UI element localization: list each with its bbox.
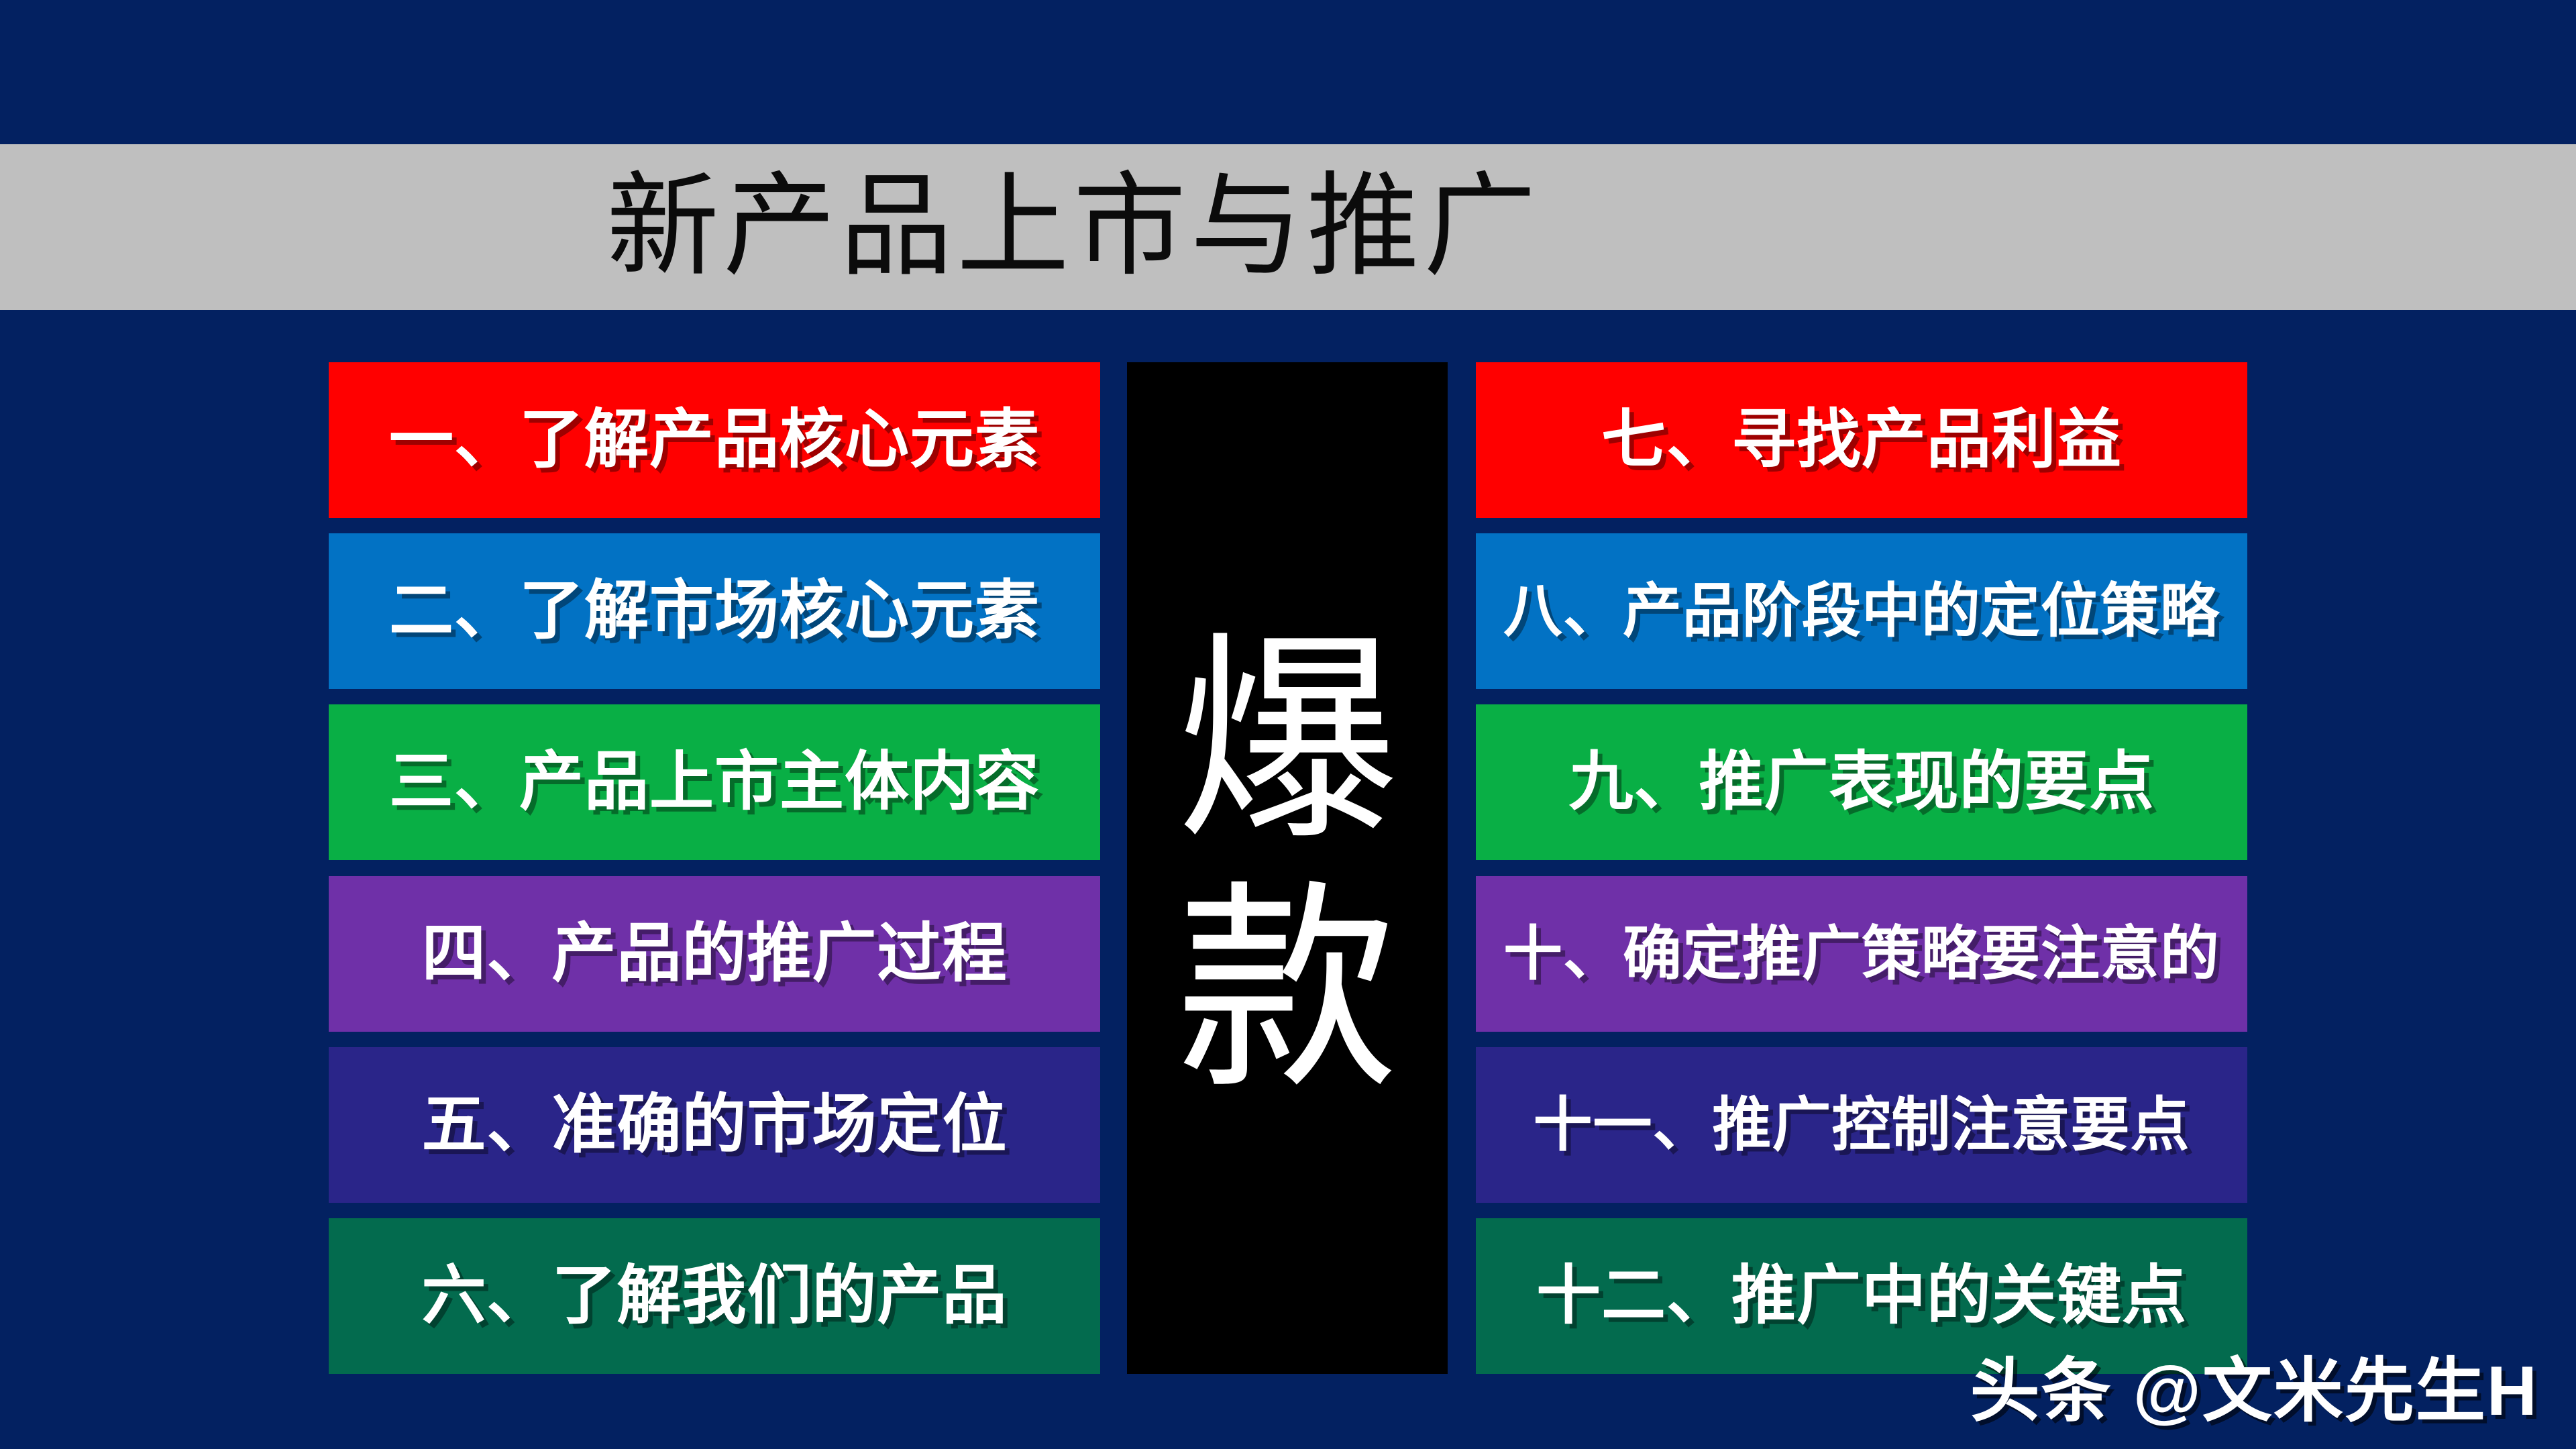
topic-item-3[interactable]: 三、产品上市主体内容 — [329, 704, 1100, 860]
topic-item-5[interactable]: 五、准确的市场定位 — [329, 1047, 1100, 1203]
topic-item-label: 十一、推广控制注意要点 — [1533, 1095, 2190, 1155]
topic-item-7[interactable]: 七、寻找产品利益 — [1476, 362, 2247, 518]
topic-item-label: 六、了解我们的产品 — [422, 1264, 1008, 1328]
topic-item-label: 十、确定推广策略要注意的 — [1503, 924, 2220, 983]
topic-item-8[interactable]: 八、产品阶段中的定位策略 — [1476, 533, 2247, 689]
center-highlight-panel: 爆 款 — [1127, 362, 1448, 1374]
topic-item-10[interactable]: 十、确定推广策略要注意的 — [1476, 876, 2247, 1032]
left-topic-column: 一、了解产品核心元素 二、了解市场核心元素 三、产品上市主体内容 四、产品的推广… — [329, 362, 1100, 1374]
topic-item-label: 四、产品的推广过程 — [422, 922, 1008, 986]
topic-item-label: 七、寻找产品利益 — [1601, 408, 2122, 472]
right-topic-column: 七、寻找产品利益 八、产品阶段中的定位策略 九、推广表现的要点 十、确定推广策略… — [1476, 362, 2247, 1374]
topic-item-label: 一、了解产品核心元素 — [389, 408, 1040, 472]
watermark: 头条 @文米先生H — [1970, 1356, 2538, 1426]
topic-item-4[interactable]: 四、产品的推广过程 — [329, 876, 1100, 1032]
topic-item-2[interactable]: 二、了解市场核心元素 — [329, 533, 1100, 689]
topic-item-label: 八、产品阶段中的定位策略 — [1503, 582, 2220, 641]
topic-item-9[interactable]: 九、推广表现的要点 — [1476, 704, 2247, 860]
topic-item-label: 十二、推广中的关键点 — [1536, 1264, 2187, 1328]
topic-item-label: 九、推广表现的要点 — [1569, 750, 2155, 814]
topic-item-label: 二、了解市场核心元素 — [389, 579, 1040, 643]
topic-item-11[interactable]: 十一、推广控制注意要点 — [1476, 1047, 2247, 1203]
title-band: 新产品上市与推广 — [0, 144, 2576, 310]
slide-canvas: 新产品上市与推广 一、了解产品核心元素 二、了解市场核心元素 三、产品上市主体内… — [0, 0, 2576, 1449]
topic-item-12[interactable]: 十二、推广中的关键点 — [1476, 1218, 2247, 1374]
topic-item-6[interactable]: 六、了解我们的产品 — [329, 1218, 1100, 1374]
topic-item-1[interactable]: 一、了解产品核心元素 — [329, 362, 1100, 518]
topic-item-label: 三、产品上市主体内容 — [389, 750, 1040, 814]
center-char-top: 爆 — [1177, 629, 1398, 859]
center-char-bottom: 款 — [1177, 877, 1398, 1108]
topic-item-label: 五、准确的市场定位 — [422, 1093, 1008, 1157]
page-title: 新产品上市与推广 — [606, 171, 1540, 284]
